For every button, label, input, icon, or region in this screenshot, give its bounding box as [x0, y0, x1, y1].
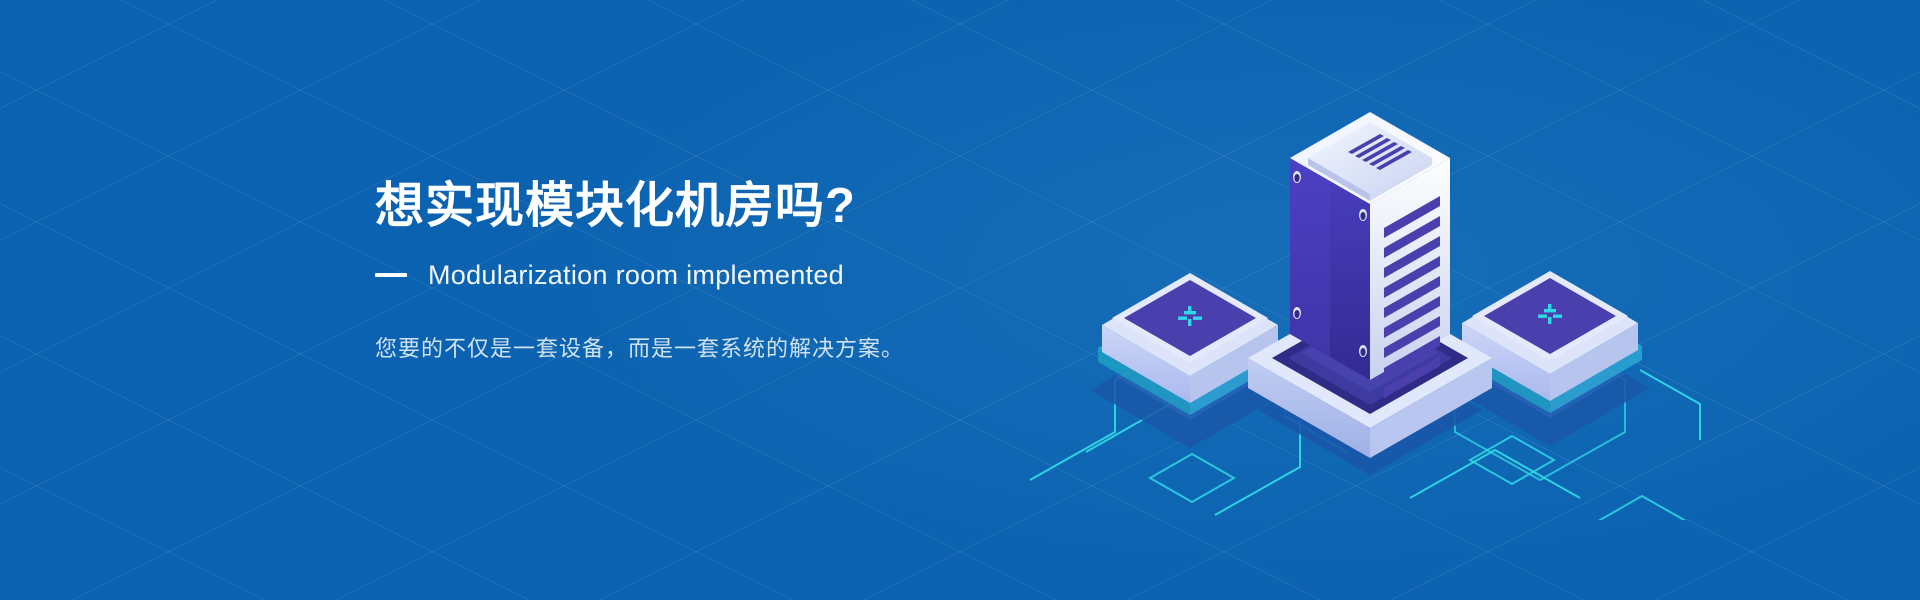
server-illustration	[1000, 80, 1780, 520]
hero-description: 您要的不仅是一套设备，而是一套系统的解决方案。	[375, 331, 1075, 363]
dash-icon	[375, 273, 407, 277]
subtitle-row: Modularization room implemented	[375, 260, 1075, 291]
hero-text-block: 想实现模块化机房吗? Modularization room implement…	[375, 178, 1075, 363]
server-tower	[1248, 112, 1492, 475]
hero-subtitle: Modularization room implemented	[428, 260, 844, 291]
page-title: 想实现模块化机房吗?	[375, 178, 1075, 235]
hero-banner: 想实现模块化机房吗? Modularization room implement…	[0, 0, 1920, 600]
